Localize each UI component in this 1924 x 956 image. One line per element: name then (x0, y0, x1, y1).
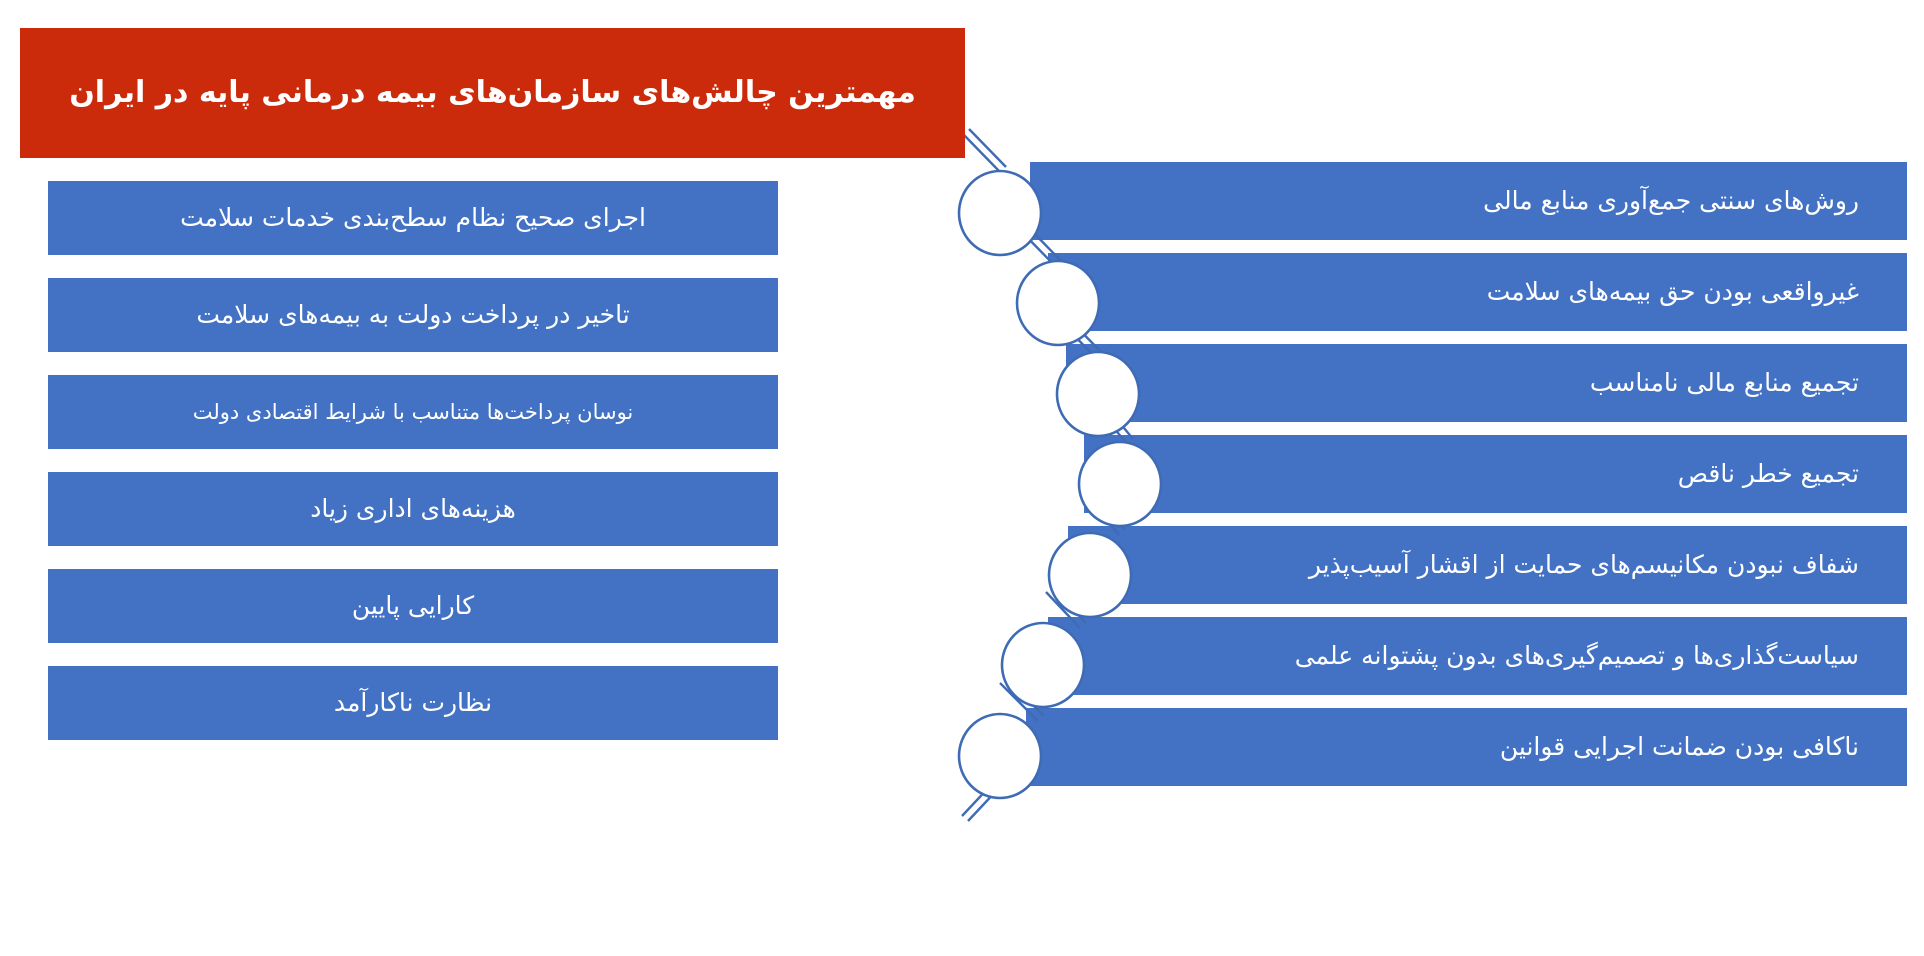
left-bar-2[interactable]: تاخیر در پرداخت دولت به بیمه‌های سلامت (48, 278, 778, 352)
left-bar-1[interactable]: اجرای صحیح نظام سطح‌بندی خدمات سلامت (48, 181, 778, 255)
title-banner: مهمترین چالش‌های سازمان‌های بیمه درمانی … (20, 28, 965, 158)
left-column: اجرای صحیح نظام سطح‌بندی خدمات سلامت تاخ… (48, 181, 778, 763)
right-bar-7[interactable]: ناکافی بودن ضمانت اجرایی قوانین (1026, 708, 1907, 786)
right-bar-2[interactable]: غیرواقعی بودن حق بیمه‌های سلامت (1048, 253, 1907, 331)
left-bar-label: اجرای صحیح نظام سطح‌بندی خدمات سلامت (180, 202, 646, 233)
left-bar-label: نوسان پرداخت‌ها متناسب با شرایط اقتصادی … (193, 399, 634, 425)
left-bar-label: کارایی پایین (352, 590, 474, 621)
left-bar-4[interactable]: هزینه‌های اداری زیاد (48, 472, 778, 546)
left-bar-label: نظارت ناکارآمد (334, 687, 492, 718)
right-bar-label: تجمیع منابع مالی نامناسب (1066, 367, 1873, 398)
infographic-canvas: مهمترین چالش‌های سازمان‌های بیمه درمانی … (0, 0, 1924, 956)
right-bar-label: شفاف نبودن مکانیسم‌های حمایت از اقشار آس… (1068, 549, 1873, 580)
connector-line-tail-b (968, 789, 998, 821)
page-title: مهمترین چالش‌های سازمان‌های بیمه درمانی … (69, 73, 916, 114)
right-bar-1[interactable]: روش‌های سنتی جمع‌آوری منابع مالی (1030, 162, 1907, 240)
right-bar-5[interactable]: شفاف نبودن مکانیسم‌های حمایت از اقشار آس… (1068, 526, 1907, 604)
right-bar-label: تجمیع خطر ناقص (1084, 458, 1873, 489)
connector-line-0b (969, 129, 1006, 167)
left-bar-label: تاخیر در پرداخت دولت به بیمه‌های سلامت (196, 299, 629, 330)
left-bar-6[interactable]: نظارت ناکارآمد (48, 666, 778, 740)
left-bar-5[interactable]: کارایی پایین (48, 569, 778, 643)
left-bar-3[interactable]: نوسان پرداخت‌ها متناسب با شرایط اقتصادی … (48, 375, 778, 449)
connector-line-0 (963, 134, 1000, 172)
right-bar-label: سیاست‌گذاری‌ها و تصمیم‌گیری‌های بدون پشت… (1048, 640, 1873, 671)
connector-line-tail (962, 784, 992, 816)
node-circle-1 (959, 171, 1041, 255)
right-bar-6[interactable]: سیاست‌گذاری‌ها و تصمیم‌گیری‌های بدون پشت… (1048, 617, 1907, 695)
right-bar-label: ناکافی بودن ضمانت اجرایی قوانین (1026, 731, 1873, 762)
right-column: روش‌های سنتی جمع‌آوری منابع مالی غیرواقع… (1030, 162, 1907, 799)
left-bar-label: هزینه‌های اداری زیاد (310, 493, 516, 524)
right-bar-4[interactable]: تجمیع خطر ناقص (1084, 435, 1907, 513)
right-bar-3[interactable]: تجمیع منابع مالی نامناسب (1066, 344, 1907, 422)
right-bar-label: روش‌های سنتی جمع‌آوری منابع مالی (1030, 185, 1873, 216)
right-bar-label: غیرواقعی بودن حق بیمه‌های سلامت (1048, 276, 1873, 307)
